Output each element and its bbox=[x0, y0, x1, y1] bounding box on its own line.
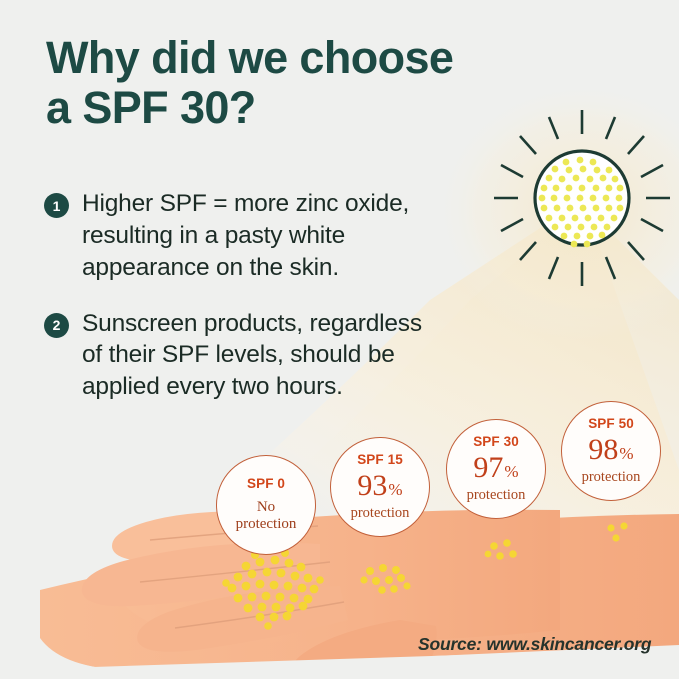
percent-symbol: % bbox=[504, 463, 518, 480]
spf-sublabel: No protection bbox=[236, 499, 297, 533]
list-item-text: Sunscreen products, regardless of their … bbox=[82, 308, 422, 404]
infographic-canvas: Why did we choose a SPF 30? 1 Higher SPF… bbox=[0, 0, 679, 679]
spf-badge-50[interactable]: SPF 50 98 % protection bbox=[561, 401, 661, 501]
spf-label: SPF 50 bbox=[588, 417, 634, 431]
spf-percent-value: 97 bbox=[473, 453, 503, 483]
source-attribution: Source: www.skincancer.org bbox=[418, 634, 651, 655]
spf-sublabel: protection bbox=[467, 487, 526, 503]
spf-percent: 97 % bbox=[473, 453, 518, 483]
spf-percent: 98 % bbox=[588, 435, 633, 465]
spf-badge-30[interactable]: SPF 30 97 % protection bbox=[446, 419, 546, 519]
list-item-number-badge: 1 bbox=[44, 193, 69, 218]
page-title: Why did we choose a SPF 30? bbox=[46, 33, 586, 134]
percent-symbol: % bbox=[388, 481, 402, 498]
spf-sublabel: protection bbox=[582, 469, 641, 485]
spf-badge-15[interactable]: SPF 15 93 % protection bbox=[330, 437, 430, 537]
spf-badge-0[interactable]: SPF 0 No protection bbox=[216, 455, 316, 555]
list-item-number-badge: 2 bbox=[44, 313, 69, 338]
list-item: 2 Sunscreen products, regardless of thei… bbox=[44, 308, 544, 404]
list-item-text: Higher SPF = more zinc oxide, resulting … bbox=[82, 188, 409, 284]
spf-label: SPF 15 bbox=[357, 453, 403, 467]
percent-symbol: % bbox=[619, 445, 633, 462]
spf-percent-value: 93 bbox=[357, 471, 387, 501]
spf-percent-value: 98 bbox=[588, 435, 618, 465]
list-item: 1 Higher SPF = more zinc oxide, resultin… bbox=[44, 188, 544, 284]
spf-label: SPF 30 bbox=[473, 435, 519, 449]
spf-label: SPF 0 bbox=[247, 477, 285, 491]
spf-sublabel: protection bbox=[351, 505, 410, 521]
reasons-list: 1 Higher SPF = more zinc oxide, resultin… bbox=[44, 188, 544, 427]
spf-percent: 93 % bbox=[357, 471, 402, 501]
